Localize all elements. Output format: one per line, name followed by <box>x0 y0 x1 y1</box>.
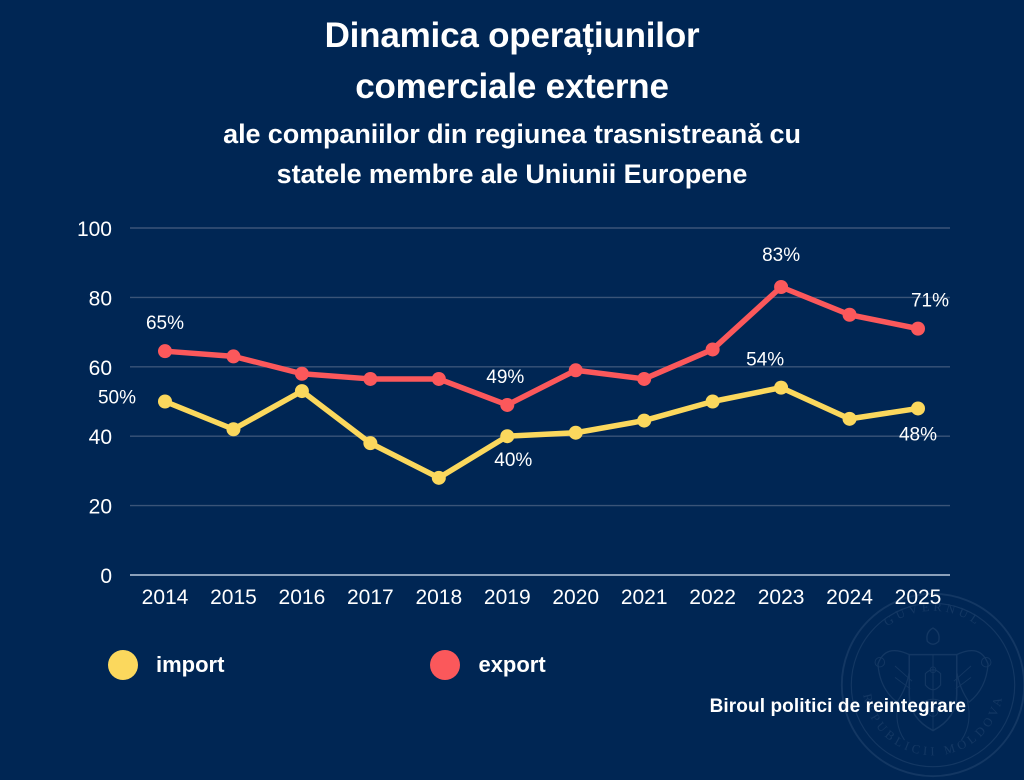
y-axis-tick-label: 100 <box>77 218 112 241</box>
x-axis-tick-label: 2024 <box>826 586 873 609</box>
data-point-import-2014[interactable] <box>158 395 172 409</box>
legend-label-import: import <box>156 652 224 678</box>
legend-label-export: export <box>478 652 545 678</box>
data-label-export-2023: 83% <box>762 245 800 266</box>
y-axis-tick-label: 60 <box>89 357 112 380</box>
data-point-import-2016[interactable] <box>295 384 309 398</box>
data-point-export-2024[interactable] <box>843 308 857 322</box>
data-point-export-2017[interactable] <box>363 372 377 386</box>
y-axis-tick-label: 80 <box>89 287 112 310</box>
data-label-export-2025: 71% <box>911 291 949 312</box>
data-point-import-2021[interactable] <box>637 414 651 428</box>
x-axis-tick-label: 2023 <box>758 586 805 609</box>
data-label-import-2023: 54% <box>746 350 784 371</box>
data-point-export-2021[interactable] <box>637 372 651 386</box>
data-point-export-2014[interactable] <box>158 344 172 358</box>
x-axis-tick-label: 2018 <box>415 586 462 609</box>
data-point-export-2016[interactable] <box>295 367 309 381</box>
data-label-import-2014: 50% <box>98 388 136 409</box>
x-axis-tick-label: 2015 <box>210 586 257 609</box>
data-point-import-2018[interactable] <box>432 471 446 485</box>
data-point-export-2020[interactable] <box>569 363 583 377</box>
data-point-export-2022[interactable] <box>706 342 720 356</box>
data-series <box>158 280 925 485</box>
data-point-export-2019[interactable] <box>500 398 514 412</box>
legend-dot-import-icon <box>108 650 138 680</box>
x-axis-tick-label: 2022 <box>689 586 736 609</box>
data-point-import-2025[interactable] <box>911 401 925 415</box>
x-axis-tick-label: 2025 <box>895 586 942 609</box>
data-point-export-2025[interactable] <box>911 322 925 336</box>
footer-attribution: Biroul politici de reintegrare <box>710 696 966 718</box>
data-point-export-2018[interactable] <box>432 372 446 386</box>
data-label-import-2025: 48% <box>899 424 937 445</box>
data-label-export-2019: 49% <box>486 367 524 388</box>
series-line-import <box>165 388 918 478</box>
data-point-import-2020[interactable] <box>569 426 583 440</box>
data-label-import-2019: 40% <box>494 450 532 471</box>
infographic-root: Dinamica operațiunilor comerciale extern… <box>0 0 1024 768</box>
data-point-import-2023[interactable] <box>774 381 788 395</box>
x-axis-tick-label: 2014 <box>142 586 189 609</box>
data-point-import-2024[interactable] <box>843 412 857 426</box>
data-point-export-2023[interactable] <box>774 280 788 294</box>
y-axis-tick-label: 0 <box>100 565 112 588</box>
legend-item-export[interactable]: export <box>430 650 545 680</box>
x-axis-tick-label: 2020 <box>552 586 599 609</box>
data-label-export-2014: 65% <box>146 313 184 334</box>
x-axis-ticks: 2014201520162017201820192020202120222023… <box>142 586 942 609</box>
legend-dot-export-icon <box>430 650 460 680</box>
gridlines <box>130 228 950 575</box>
x-axis-tick-label: 2019 <box>484 586 531 609</box>
x-axis-tick-label: 2017 <box>347 586 394 609</box>
data-point-import-2022[interactable] <box>706 395 720 409</box>
data-point-import-2019[interactable] <box>500 429 514 443</box>
data-point-import-2017[interactable] <box>363 436 377 450</box>
data-point-export-2015[interactable] <box>226 349 240 363</box>
x-axis-tick-label: 2016 <box>279 586 326 609</box>
y-axis-tick-label: 40 <box>89 426 112 449</box>
legend-item-import[interactable]: import <box>108 650 224 680</box>
series-line-export <box>165 287 918 405</box>
data-point-import-2015[interactable] <box>226 422 240 436</box>
y-axis-tick-label: 20 <box>89 496 112 519</box>
chart-legend: import export <box>108 650 546 680</box>
x-axis-tick-label: 2021 <box>621 586 668 609</box>
